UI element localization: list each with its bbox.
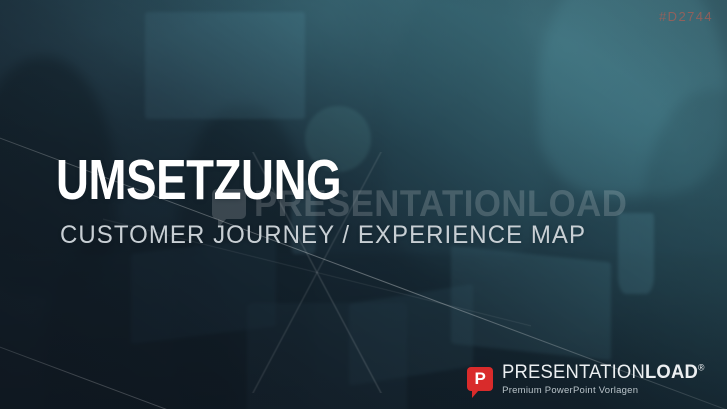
registered-mark: ®	[698, 362, 705, 372]
logo-name-bold: LOAD	[645, 362, 698, 383]
slide-id-label: #D2744	[659, 9, 713, 24]
logo-tagline: Premium PowerPoint Vorlagen	[502, 386, 711, 396]
presentationload-logo[interactable]: P PRESENTATIONLOAD® Premium PowerPoint V…	[467, 363, 711, 396]
speech-bubble-icon: P	[467, 367, 493, 391]
logo-name: PRESENTATIONLOAD®	[502, 363, 705, 382]
title-block: UMSETZUNG CUSTOMER JOURNEY / EXPERIENCE …	[56, 152, 608, 250]
page-subtitle: CUSTOMER JOURNEY / EXPERIENCE MAP	[60, 221, 586, 250]
logo-letter: P	[467, 367, 493, 391]
title-slide: PRESENTATIONLOAD #D2744 UMSETZUNG CUSTOM…	[0, 0, 727, 409]
logo-wordmark: PRESENTATIONLOAD® Premium PowerPoint Vor…	[502, 363, 711, 396]
logo-name-light: PRESENTATION	[502, 362, 645, 383]
page-title: UMSETZUNG	[56, 152, 498, 209]
